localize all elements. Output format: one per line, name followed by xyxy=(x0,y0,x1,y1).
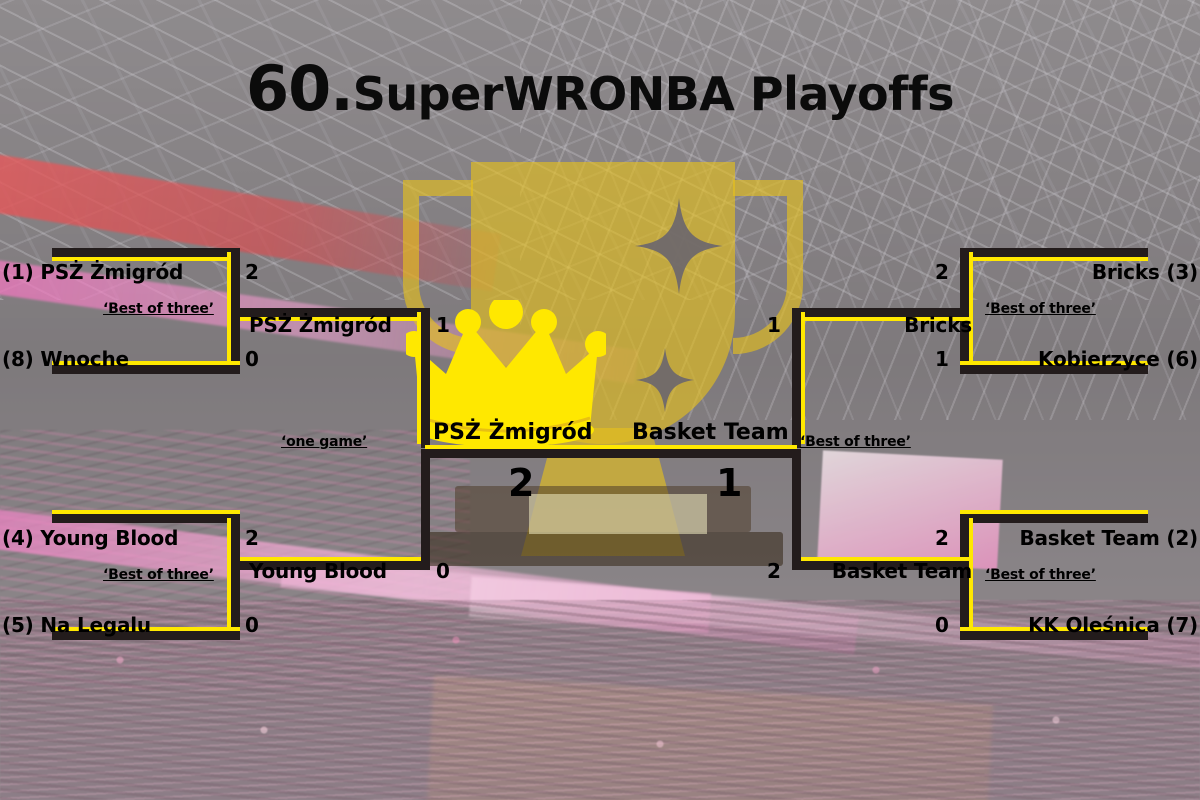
series-format-label: ‘Best of three’ xyxy=(103,301,214,317)
team-label: Basket Team xyxy=(660,559,972,583)
bracket-line xyxy=(421,449,430,570)
team-score: 1 xyxy=(436,313,450,337)
final-team-right: Basket Team xyxy=(632,420,789,445)
page-title: 60.SuperWRONBA Playoffs xyxy=(0,52,1200,125)
final-score-left: 2 xyxy=(508,461,534,505)
team-score: 1 xyxy=(935,347,949,371)
team-score: 2 xyxy=(245,260,259,284)
bracket-line xyxy=(792,449,801,570)
bracket-line xyxy=(231,248,240,374)
team-label: (1) PSŻ Żmigród xyxy=(2,260,183,284)
team-label: (8) Wnoche xyxy=(2,347,129,371)
series-format-label: ‘Best of three’ xyxy=(103,567,214,583)
bracket-line xyxy=(960,514,1148,523)
title-edition-number: 60. xyxy=(246,52,353,125)
team-score: 2 xyxy=(245,526,259,550)
series-format-label: ‘Best of three’ xyxy=(985,301,1096,317)
bracket-line xyxy=(421,308,430,448)
title-name: SuperWRONBA Playoffs xyxy=(353,67,954,121)
bracket-line xyxy=(52,248,240,257)
bracket-line xyxy=(960,248,1148,257)
series-format-label: ‘one game’ xyxy=(281,434,367,450)
team-label: Young Blood xyxy=(249,559,387,583)
bracket-line-accent xyxy=(960,510,1148,514)
bracket-poster: 60.SuperWRONBA Playoffs (1) PSŻ Żmigród … xyxy=(0,0,1200,800)
team-score: 2 xyxy=(935,526,949,550)
series-format-label: ‘Best of three’ xyxy=(985,567,1096,583)
team-score: 2 xyxy=(767,559,781,583)
team-label: Bricks xyxy=(660,313,972,337)
team-score: 0 xyxy=(245,347,259,371)
bracket-line-accent xyxy=(52,510,240,514)
bracket-line xyxy=(231,514,240,640)
team-score: 2 xyxy=(935,260,949,284)
final-score-right: 1 xyxy=(716,461,742,505)
team-label: (4) Young Blood xyxy=(2,526,178,550)
bracket-line-accent xyxy=(227,518,231,636)
team-score: 0 xyxy=(245,613,259,637)
bracket-line xyxy=(52,514,240,523)
bracket-line xyxy=(421,449,801,458)
team-score: 0 xyxy=(436,559,450,583)
team-score: 0 xyxy=(935,613,949,637)
team-score: 1 xyxy=(767,313,781,337)
team-label: PSŻ Żmigród xyxy=(249,313,392,337)
team-label: (5) Na Legalu xyxy=(2,613,151,637)
bracket-line-accent xyxy=(417,312,421,444)
bracket-line-accent xyxy=(227,252,231,370)
bracket-line-accent xyxy=(425,445,797,449)
series-format-label: ‘Best of three’ xyxy=(800,434,911,450)
final-team-left: PSŻ Żmigród xyxy=(433,420,592,445)
